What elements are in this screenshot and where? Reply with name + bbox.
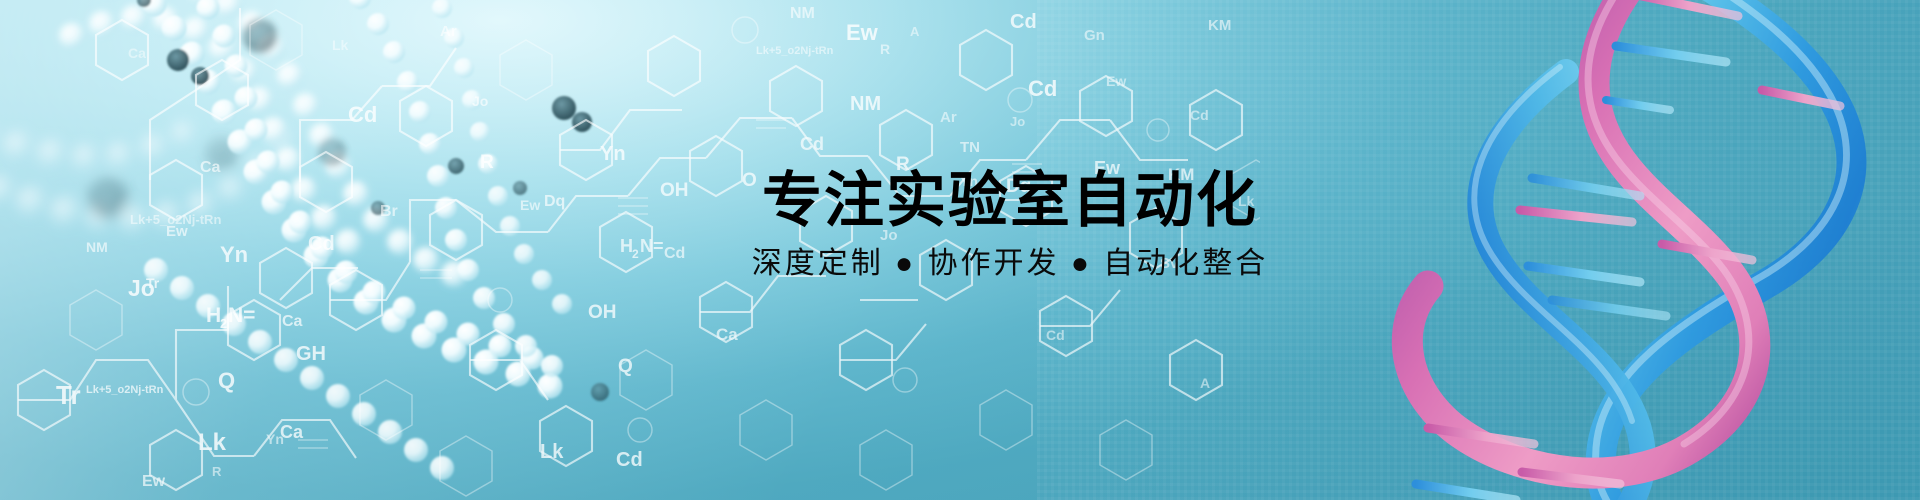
svg-text:Ew: Ew — [1106, 73, 1126, 89]
svg-text:R: R — [480, 152, 494, 173]
svg-text:A: A — [1200, 375, 1210, 391]
svg-text:Ca: Ca — [128, 45, 146, 61]
svg-text:Cd: Cd — [1190, 107, 1209, 123]
banner-copy-block: 专注实验室自动化 深度定制 ● 协作开发 ● 自动化整合 — [610, 170, 1410, 282]
svg-text:Cd: Cd — [348, 102, 377, 127]
svg-text:Cd: Cd — [800, 134, 824, 154]
svg-text:Q: Q — [218, 368, 235, 393]
svg-text:Ca: Ca — [716, 325, 738, 344]
svg-text:NM: NM — [790, 5, 815, 22]
svg-text:Lk+5_o2Nj-tRn: Lk+5_o2Nj-tRn — [86, 384, 164, 396]
svg-text:Jo: Jo — [472, 93, 488, 109]
svg-text:NM: NM — [850, 93, 881, 115]
svg-text:H: H — [206, 304, 221, 327]
svg-text:A: A — [910, 24, 920, 39]
svg-text:2: 2 — [220, 316, 227, 331]
svg-text:NM: NM — [86, 239, 108, 255]
svg-text:Cd: Cd — [1046, 327, 1065, 343]
svg-text:Lk: Lk — [198, 429, 227, 456]
svg-text:Br: Br — [380, 203, 398, 220]
svg-text:Lk: Lk — [332, 37, 349, 53]
svg-text:Tr: Tr — [56, 380, 81, 410]
svg-text:Cd: Cd — [308, 233, 335, 255]
dna-double-helix-graphic — [1370, 0, 1920, 500]
svg-text:Ar: Ar — [940, 109, 957, 126]
svg-text:TN: TN — [960, 139, 980, 156]
svg-text:R: R — [212, 464, 222, 479]
svg-text:Dq: Dq — [544, 193, 565, 210]
svg-text:Gn: Gn — [1084, 27, 1105, 44]
svg-text:KM: KM — [1208, 17, 1231, 34]
svg-text:Lk+5_o2Nj-tRn: Lk+5_o2Nj-tRn — [130, 212, 221, 227]
svg-text:Lk: Lk — [540, 441, 564, 463]
hero-banner: Tr Lk Lk+5_o2Nj-tRn Jo Tr H 2 N= Yn GH Q… — [0, 0, 1920, 500]
svg-text:OH: OH — [588, 302, 617, 323]
svg-text:Ar: Ar — [440, 23, 457, 40]
svg-text:Ew: Ew — [846, 20, 879, 45]
svg-text:R: R — [880, 41, 890, 57]
svg-text:Yn: Yn — [600, 143, 626, 165]
svg-text:Cd: Cd — [1010, 11, 1037, 33]
svg-text:Cd: Cd — [616, 449, 643, 471]
svg-text:Ca: Ca — [200, 159, 221, 176]
svg-text:N=: N= — [228, 304, 255, 327]
svg-text:Ca: Ca — [282, 313, 303, 330]
svg-text:Cd: Cd — [1028, 76, 1057, 101]
svg-text:Ew: Ew — [142, 473, 166, 490]
svg-text:Tr: Tr — [146, 275, 160, 291]
svg-text:Lk+5_o2Nj-tRn: Lk+5_o2Nj-tRn — [756, 45, 834, 57]
svg-text:Yn: Yn — [266, 431, 284, 447]
svg-text:Q: Q — [618, 356, 633, 377]
svg-text:Yn: Yn — [220, 242, 248, 267]
svg-text:GH: GH — [296, 343, 326, 365]
banner-subheadline: 深度定制 ● 协作开发 ● 自动化整合 — [610, 246, 1410, 282]
svg-text:Ew: Ew — [520, 197, 540, 213]
svg-text:Jo: Jo — [1010, 114, 1025, 129]
banner-headline: 专注实验室自动化 — [610, 170, 1410, 232]
